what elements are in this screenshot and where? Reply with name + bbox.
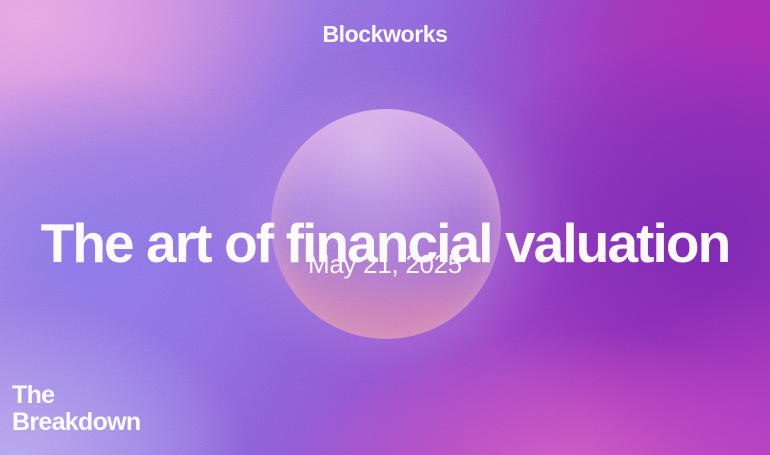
show-name-line-2: Breakdown bbox=[12, 409, 140, 436]
episode-date: May 21, 2025 bbox=[0, 250, 770, 279]
episode-cover-card: Blockworks The art of financial valuatio… bbox=[0, 0, 770, 455]
blockworks-logo-wordmark[interactable]: Blockworks bbox=[0, 23, 770, 46]
show-name: The Breakdown bbox=[12, 382, 140, 435]
show-name-line-1: The bbox=[12, 382, 140, 409]
